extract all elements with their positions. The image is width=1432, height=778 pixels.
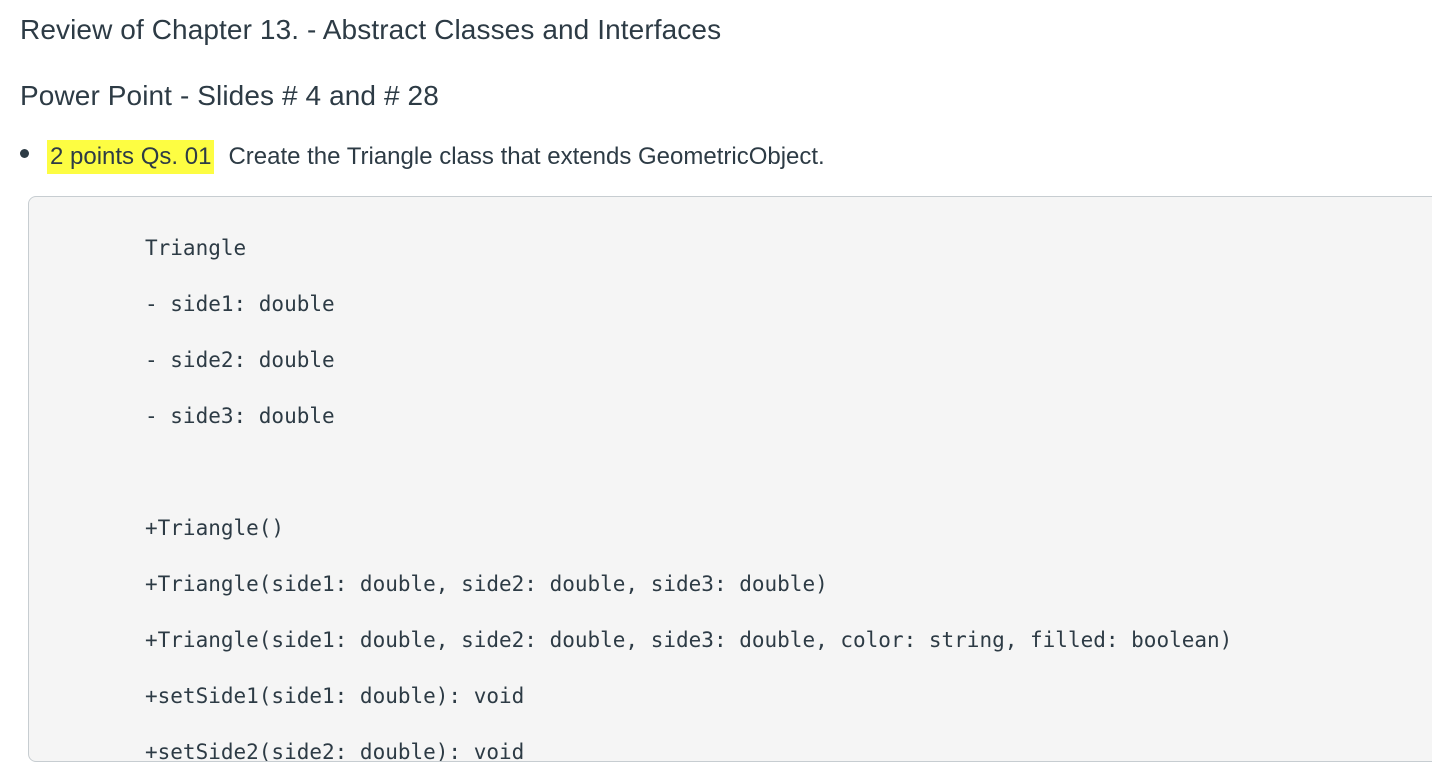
uml-class-diagram-block: Triangle - side1: double - side2: double… (28, 196, 1432, 762)
uml-line: +setSide2(side2: double): void (145, 738, 1232, 762)
page-subtitle-powerpoint-slides: Power Point - Slides # 4 and # 28 (20, 79, 439, 113)
question-list: 2 points Qs. 01 Create the Triangle clas… (20, 140, 825, 174)
uml-line: +Triangle(side1: double, side2: double, … (145, 570, 1232, 598)
uml-line: +setSide1(side1: double): void (145, 682, 1232, 710)
uml-line: - side1: double (145, 290, 1232, 318)
bullet-dot-icon (20, 149, 29, 158)
document-page: Review of Chapter 13. - Abstract Classes… (0, 0, 1432, 778)
uml-blank-line (145, 458, 1232, 486)
uml-line: +Triangle() (145, 514, 1232, 542)
uml-line: - side3: double (145, 402, 1232, 430)
status-badge-points: 2 points Qs. 01 (47, 140, 214, 174)
uml-line: +Triangle(side1: double, side2: double, … (145, 626, 1232, 654)
question-prompt-text: Create the Triangle class that extends G… (228, 141, 824, 172)
list-item-question-01: 2 points Qs. 01 Create the Triangle clas… (20, 140, 825, 174)
uml-line: - side2: double (145, 346, 1232, 374)
uml-class-diagram-text: Triangle - side1: double - side2: double… (145, 234, 1232, 762)
page-title-chapter-review: Review of Chapter 13. - Abstract Classes… (20, 13, 721, 47)
uml-line: Triangle (145, 234, 1232, 262)
